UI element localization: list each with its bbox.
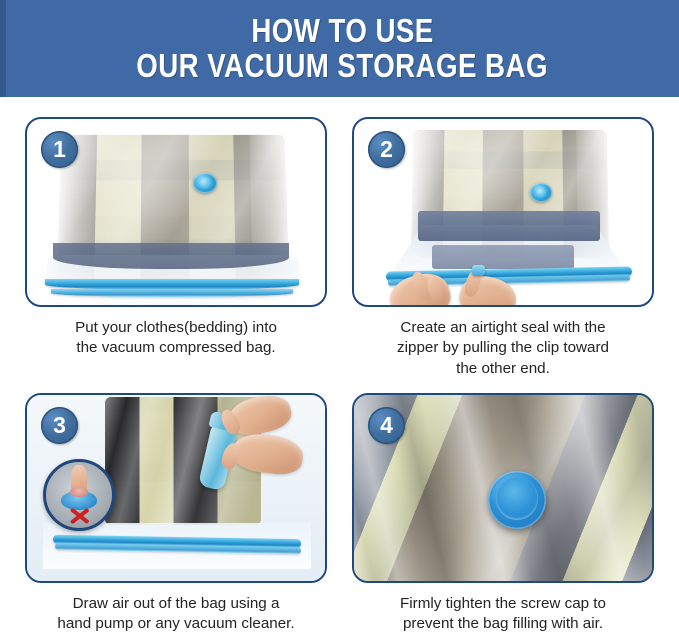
step-card-1: 1 (25, 117, 327, 359)
step-caption-2-line-1: Create an airtight seal with the (352, 318, 654, 338)
step-badge-2: 2 (368, 131, 405, 168)
header-banner: HOW TO USE OUR VACUUM STORAGE BAG (0, 0, 679, 97)
air-valve-hole (70, 487, 88, 497)
step-caption-3-line-2: hand pump or any vacuum cleaner. (25, 614, 327, 634)
step-card-3: 3 (25, 393, 327, 635)
step-image-panel-4: 4 (352, 393, 654, 583)
step-badge-4: 4 (368, 407, 405, 444)
infographic-root: HOW TO USE OUR VACUUM STORAGE BAG 1 (0, 0, 679, 641)
header-title-line-2: OUR VACUUM STORAGE BAG (137, 49, 549, 83)
air-valve-inner (535, 187, 547, 198)
step-card-4: 4 Firmly tighten the screw cap to preven… (352, 393, 654, 635)
screw-cap (488, 471, 546, 529)
red-cross-icon (69, 506, 91, 523)
step-caption-1-line-1: Put your clothes(bedding) into (25, 318, 327, 338)
step-caption-2: Create an airtight seal with the zipper … (352, 318, 654, 379)
step-badge-1: 1 (41, 131, 78, 168)
bag-navy-band-lower (432, 245, 574, 269)
zipper-strip-second (51, 289, 293, 297)
step-caption-1-line-2: the vacuum compressed bag. (25, 338, 327, 358)
air-valve-inner (198, 177, 211, 188)
step-caption-4-line-2: prevent the bag filling with air. (352, 614, 654, 634)
step-caption-4: Firmly tighten the screw cap to prevent … (352, 594, 654, 635)
step-image-panel-1: 1 (25, 117, 327, 307)
step-caption-3-line-1: Draw air out of the bag using a (25, 594, 327, 614)
header-title-line-1: HOW TO USE (251, 14, 433, 48)
bag-navy-band (418, 211, 600, 241)
screw-cap-top (496, 477, 539, 520)
step-caption-1: Put your clothes(bedding) into the vacuu… (25, 318, 327, 359)
step-caption-2-line-3: the other end. (352, 359, 654, 379)
step-caption-2-line-2: zipper by pulling the clip toward (352, 338, 654, 358)
step-badge-3: 3 (41, 407, 78, 444)
step-caption-3: Draw air out of the bag using a hand pum… (25, 594, 327, 635)
do-not-press-valve-inset (43, 459, 115, 531)
step-card-2: 2 (352, 117, 654, 379)
step-caption-4-line-1: Firmly tighten the screw cap to (352, 594, 654, 614)
bag-navy-band (53, 243, 289, 269)
step-image-panel-3: 3 (25, 393, 327, 583)
steps-grid: 1 (0, 97, 679, 641)
zipper-clip (472, 265, 485, 276)
air-valve-icon (530, 183, 552, 202)
air-valve-icon (193, 173, 217, 193)
step-image-panel-2: 2 (352, 117, 654, 307)
